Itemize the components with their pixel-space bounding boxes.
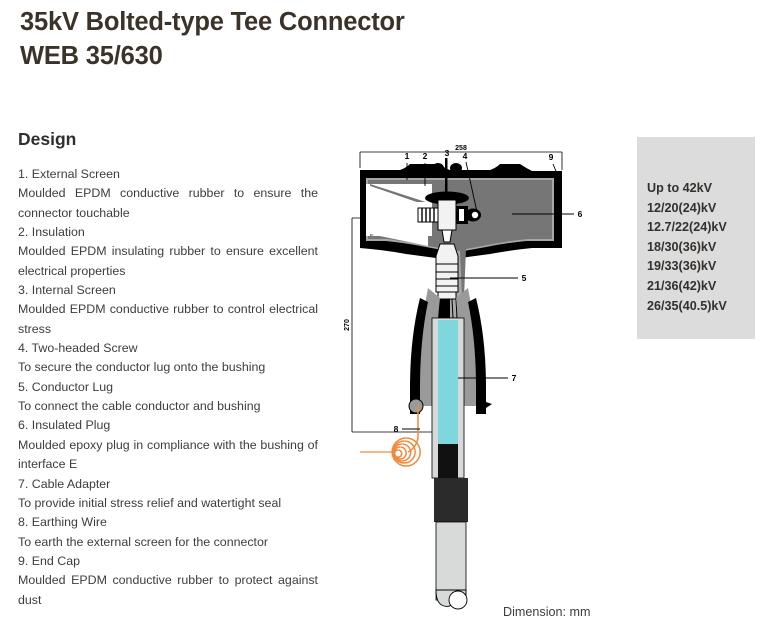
- list-item: 7. Cable Adapter To provide initial stre…: [18, 475, 318, 514]
- cable-end-circle: [449, 591, 467, 609]
- screw-top-lug-left: [432, 163, 444, 173]
- design-item-title: 2. Insulation: [18, 223, 318, 242]
- callout-label-4: 4: [463, 151, 468, 161]
- list-item: 5. Conductor Lug To connect the cable co…: [18, 378, 318, 417]
- design-item-desc: Moulded EPDM conductive rubber to contro…: [18, 300, 318, 339]
- design-item-title: 8. Earthing Wire: [18, 513, 318, 532]
- design-item-desc: To earth the external screen for the con…: [18, 533, 318, 552]
- design-item-desc: Moulded EPDM insulating rubber to ensure…: [18, 242, 318, 281]
- design-item-title: 1. External Screen: [18, 165, 318, 184]
- design-item-title: 7. Cable Adapter: [18, 475, 318, 494]
- design-item-desc: Moulded EPDM conductive rubber to protec…: [18, 571, 318, 610]
- cable-assembly: [432, 318, 468, 609]
- screw-top-lug-right: [450, 163, 462, 173]
- design-item-list: 1. External Screen Moulded EPDM conducti…: [18, 165, 318, 610]
- lug-taper: [436, 244, 458, 264]
- callout-label-3: 3: [445, 148, 450, 158]
- list-item: 2. Insulation Moulded EPDM insulating ru…: [18, 223, 318, 281]
- list-item: 1. External Screen Moulded EPDM conducti…: [18, 165, 318, 223]
- callout-label-9: 9: [549, 152, 554, 162]
- page-title-line-1: 35kV Bolted-type Tee Connector: [20, 6, 540, 40]
- callout-label-5: 5: [522, 273, 527, 283]
- adapter-lug-left: [409, 399, 423, 413]
- product-cross-section-drawing: 258 270: [340, 138, 620, 618]
- design-item-title: 3. Internal Screen: [18, 281, 318, 300]
- cable-core-black: [438, 444, 458, 478]
- callout-label-1: 1: [405, 151, 410, 161]
- list-item: 6. Insulated Plug Moulded epoxy plug in …: [18, 416, 318, 474]
- voltage-rating-item: 12.7/22(24)kV: [647, 218, 727, 238]
- callout-label-2: 2: [423, 151, 428, 161]
- lug-crimp: [438, 292, 456, 299]
- design-item-desc: To secure the conductor lug onto the bus…: [18, 358, 318, 377]
- list-item: 8. Earthing Wire To earth the external s…: [18, 513, 318, 552]
- insulated-plug: [470, 182, 550, 242]
- dimension-height-label: 270: [344, 319, 351, 331]
- design-item-title: 4. Two-headed Screw: [18, 339, 318, 358]
- voltage-rating-item: Up to 42kV: [647, 179, 727, 199]
- design-item-desc: To connect the cable conductor and bushi…: [18, 397, 318, 416]
- voltage-rating-item: 12/20(24)kV: [647, 199, 727, 219]
- voltage-rating-item: 21/36(42)kV: [647, 277, 727, 297]
- design-item-title: 9. End Cap: [18, 552, 318, 571]
- design-item-title: 5. Conductor Lug: [18, 378, 318, 397]
- voltage-rating-list: Up to 42kV 12/20(24)kV 12.7/22(24)kV 18/…: [647, 179, 727, 316]
- bolt-head-inner: [459, 209, 464, 221]
- screw-neck: [442, 230, 452, 242]
- design-item-desc: Moulded epoxy plug in compliance with th…: [18, 436, 318, 475]
- screw-body: [438, 200, 456, 230]
- cable-jacket-black: [434, 478, 468, 522]
- voltage-rating-item: 18/30(36)kV: [647, 238, 727, 258]
- list-item: 9. End Cap Moulded EPDM conductive rubbe…: [18, 552, 318, 610]
- earthing-wire-coil-5: [395, 450, 402, 457]
- list-item: 3. Internal Screen Moulded EPDM conducti…: [18, 281, 318, 339]
- design-item-desc: To provide initial stress relief and wat…: [18, 494, 318, 513]
- voltage-rating-panel: Up to 42kV 12/20(24)kV 12.7/22(24)kV 18/…: [637, 137, 755, 339]
- design-item-title: 6. Insulated Plug: [18, 416, 318, 435]
- voltage-rating-item: 19/33(36)kV: [647, 257, 727, 277]
- dimension-unit-note: Dimension: mm: [503, 605, 590, 619]
- cable-lower-sheath: [436, 522, 466, 600]
- design-item-desc: Moulded EPDM conductive rubber to ensure…: [18, 184, 318, 223]
- voltage-rating-item: 26/35(40.5)kV: [647, 297, 727, 317]
- datasheet-page: 35kV Bolted-type Tee Connector WEB 35/63…: [0, 0, 760, 634]
- bolt-nut-hole: [472, 212, 478, 218]
- screw-threads: [418, 208, 438, 222]
- earthing-wire: [360, 406, 420, 466]
- cable-core-cyan: [438, 320, 458, 444]
- page-title-line-2: WEB 35/630: [20, 40, 540, 74]
- left-mouth: [366, 184, 370, 236]
- callout-label-6: 6: [578, 209, 583, 219]
- design-section-heading: Design: [18, 129, 76, 150]
- list-item: 4. Two-headed Screw To secure the conduc…: [18, 339, 318, 378]
- callout-label-8: 8: [394, 424, 399, 434]
- page-title: 35kV Bolted-type Tee Connector WEB 35/63…: [20, 6, 540, 74]
- callout-label-7: 7: [512, 373, 517, 383]
